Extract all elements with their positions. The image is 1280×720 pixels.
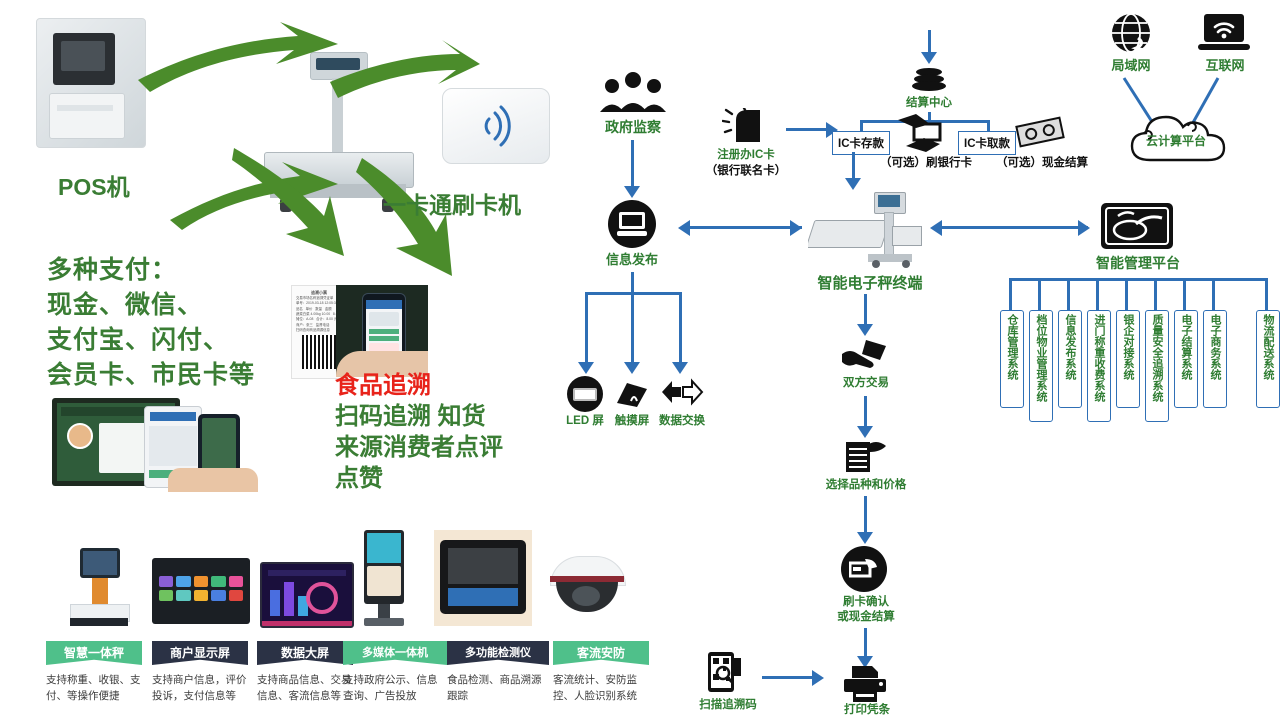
product-desc: 食品检测、商品溯源跟踪	[447, 673, 549, 705]
info-branch-led	[585, 292, 588, 364]
gov-to-info-arrowhead	[624, 186, 640, 198]
product-card: 数据大屏 支持商品信息、交易信息、客流信息等	[257, 641, 353, 705]
product-card: 商户显示屏 支持商户信息，评价投诉，支付信息等	[152, 641, 248, 705]
gov-to-info-line	[631, 140, 634, 188]
info-branch-touch-arrowhead	[624, 362, 640, 374]
government-people-icon	[598, 72, 668, 114]
system-label: 质量安全追溯系统	[1146, 314, 1168, 402]
product-tag: 智慧一体秤	[46, 641, 142, 665]
product-desc: 支持政府公示、信息查询、广告投放	[343, 673, 447, 705]
info-branch-led-arrowhead	[578, 362, 594, 374]
data-exchange-icon	[660, 376, 704, 408]
product-tag: 商户显示屏	[152, 641, 248, 665]
system-box-logistics[interactable]: 物流配送系统	[1256, 310, 1280, 408]
scan-trace-qr-icon	[706, 650, 744, 694]
systems-drop	[1154, 278, 1157, 312]
led-screen-icon	[567, 376, 603, 412]
step-arrow-1	[857, 324, 873, 336]
touch-screen-icon	[614, 376, 650, 412]
product-tag: 客流安防	[553, 641, 649, 665]
system-label: 物流配送系统	[1257, 314, 1279, 380]
product-tag: 数据大屏	[257, 641, 353, 665]
payment-text-block: 多种支付： 现金、微信、 支付宝、闪付、 会员卡、市民卡等	[47, 253, 255, 393]
product-desc: 支持商户信息，评价投诉，支付信息等	[152, 673, 248, 705]
scale-to-platform-line	[936, 226, 1088, 229]
info-branch-data-arrowhead	[672, 362, 688, 374]
ic-deposit-down-arrowhead	[845, 178, 861, 190]
food-trace-line-2: 来源消费者点评	[335, 432, 503, 463]
swipe-or-cash-label: 刷卡确认 或现金结算	[818, 595, 914, 625]
product-photo-detector	[434, 530, 532, 626]
system-box-entry-weighing[interactable]: 进门称重收费系统	[1087, 310, 1111, 422]
handshake-icon	[840, 338, 890, 372]
step-arrow-2	[857, 426, 873, 438]
scale-terminal-icon	[808, 192, 928, 270]
info-release-monitor-icon	[608, 200, 656, 248]
systems-drop	[1212, 278, 1215, 312]
scale-terminal-label: 智能电子秤终端	[790, 274, 950, 294]
select-list-icon	[844, 438, 888, 474]
info-release-label: 信息发布	[592, 252, 672, 269]
systems-drop	[1067, 278, 1070, 312]
green-swoosh-arrows	[130, 20, 480, 290]
system-box-e-settlement[interactable]: 电子结算系统	[1174, 310, 1198, 408]
register-to-ic-line	[786, 128, 828, 131]
internet-laptop-icon	[1198, 12, 1250, 54]
info-branch-touch	[631, 292, 634, 364]
scan-to-print-arrowhead	[812, 670, 824, 686]
payment-line-4: 会员卡、市民卡等	[47, 358, 255, 393]
ic-deposit-down-line	[852, 152, 855, 180]
systems-drop	[1125, 278, 1128, 312]
register-ic-card-label: 注册办IC卡	[700, 148, 792, 163]
government-label: 政府监察	[588, 118, 678, 136]
payment-line-1: 多种支付：	[47, 253, 255, 288]
scale-to-platform-arrowhead-left	[930, 220, 942, 236]
product-desc: 支持商品信息、交易信息、客流信息等	[257, 673, 353, 705]
food-trace-line-1: 扫码追溯 知货	[335, 401, 503, 432]
system-label: 进门称重收费系统	[1088, 314, 1110, 402]
select-variety-price-label: 选择品种和价格	[816, 478, 916, 493]
food-trace-block: 食品追溯 扫码追溯 知货 来源消费者点评 点赞	[335, 370, 503, 494]
ic-withdraw-box[interactable]: IC卡取款	[958, 131, 1016, 155]
info-branch-data	[679, 292, 682, 364]
product-card: 多媒体一体机 支持政府公示、信息查询、广告投放	[343, 641, 447, 705]
register-ic-card-icon	[722, 108, 766, 144]
food-trace-line-3: 点赞	[335, 463, 503, 494]
system-box-warehouse[interactable]: 仓库管理系统	[1000, 310, 1024, 408]
system-label: 仓库管理系统	[1001, 314, 1023, 380]
product-photo-security-camera	[548, 552, 626, 622]
product-photo-smart-scale	[66, 548, 132, 626]
lan-globe-icon	[1110, 12, 1152, 54]
phone-trace-photo	[336, 285, 428, 377]
systems-drop	[1038, 278, 1041, 312]
pos-machine-label: POS机	[58, 168, 130, 202]
systems-drop	[1265, 278, 1268, 312]
tablet-phone-photo	[48, 392, 258, 492]
system-box-quality-trace[interactable]: 质量安全追溯系统	[1145, 310, 1169, 422]
cash-settle-label: （可选）现金结算	[988, 156, 1096, 171]
scale-to-info-line	[690, 226, 802, 229]
data-exchange-label: 数据交换	[650, 414, 714, 429]
allinone-card-reader-label: 一卡通刷卡机	[383, 186, 521, 220]
systems-drop	[1096, 278, 1099, 312]
system-box-e-commerce[interactable]: 电子商务系统	[1203, 310, 1227, 408]
product-photo-kiosk	[360, 530, 408, 626]
print-receipt-label: 打印凭条	[832, 703, 902, 718]
step-line-4	[864, 628, 867, 658]
product-desc: 支持称重、收银、支付、等操作便捷	[46, 673, 142, 705]
management-platform-label: 智能管理平台	[1082, 254, 1194, 272]
scale-to-info-arrowhead-left	[678, 220, 690, 236]
product-desc: 客流统计、安防监控、人脸识别系统	[553, 673, 649, 705]
food-trace-title: 食品追溯	[335, 370, 503, 401]
both-party-trade-label: 双方交易	[826, 376, 906, 391]
payment-line-2: 现金、微信、	[47, 288, 255, 323]
product-card: 智慧一体秤 支持称重、收银、支付、等操作便捷	[46, 641, 142, 705]
step-line-3	[864, 496, 867, 534]
printer-icon	[842, 666, 888, 702]
settlement-coins-icon	[908, 68, 950, 94]
system-box-stall-property[interactable]: 档位物业管理系统	[1029, 310, 1053, 422]
system-label: 电子商务系统	[1204, 314, 1226, 380]
step-line-2	[864, 396, 867, 428]
step-line-1	[864, 294, 867, 326]
system-box-bank-enterprise[interactable]: 银企对接系统	[1116, 310, 1140, 408]
product-card: 多功能检测仪 食品检测、商品溯源跟踪	[447, 641, 549, 705]
product-tag: 多功能检测仪	[447, 641, 549, 665]
management-platform-icon	[1100, 202, 1174, 250]
step-arrow-3	[857, 532, 873, 544]
swipe-bank-card-icon	[896, 112, 954, 154]
product-photo-data-screen	[260, 562, 354, 628]
ic-deposit-box[interactable]: IC卡存款	[832, 131, 890, 155]
register-ic-card-sub: （银行联名卡）	[698, 164, 794, 179]
info-branch-stem	[631, 272, 634, 294]
payment-line-3: 支付宝、闪付、	[47, 323, 255, 358]
system-label: 电子结算系统	[1175, 314, 1197, 380]
system-label: 信息发布系统	[1059, 314, 1081, 380]
scale-to-info-arrowhead-right	[790, 220, 802, 236]
settlement-center-label: 结算中心	[894, 96, 964, 111]
scan-trace-code-label: 扫描追溯码	[688, 698, 768, 713]
systems-drop	[1183, 278, 1186, 312]
systems-drop	[1009, 278, 1012, 312]
scale-to-platform-arrowhead-right	[1078, 220, 1090, 236]
cloud-platform-label: 云计算平台	[1128, 134, 1224, 150]
swipe-card-confirm-icon	[841, 546, 887, 592]
system-box-info-release[interactable]: 信息发布系统	[1058, 310, 1082, 408]
product-card: 客流安防 客流统计、安防监控、人脸识别系统	[553, 641, 649, 705]
system-label: 档位物业管理系统	[1030, 314, 1052, 402]
system-label: 银企对接系统	[1117, 314, 1139, 380]
swipe-bank-card-label: （可选）刷银行卡	[872, 156, 980, 171]
product-tag: 多媒体一体机	[343, 641, 447, 665]
systems-bus-bar	[1009, 278, 1267, 281]
to-settlement-arrowhead	[921, 52, 937, 64]
scan-to-print-line	[762, 676, 816, 679]
cash-bills-icon	[1014, 116, 1066, 148]
product-photo-merchant-screen	[152, 558, 250, 624]
